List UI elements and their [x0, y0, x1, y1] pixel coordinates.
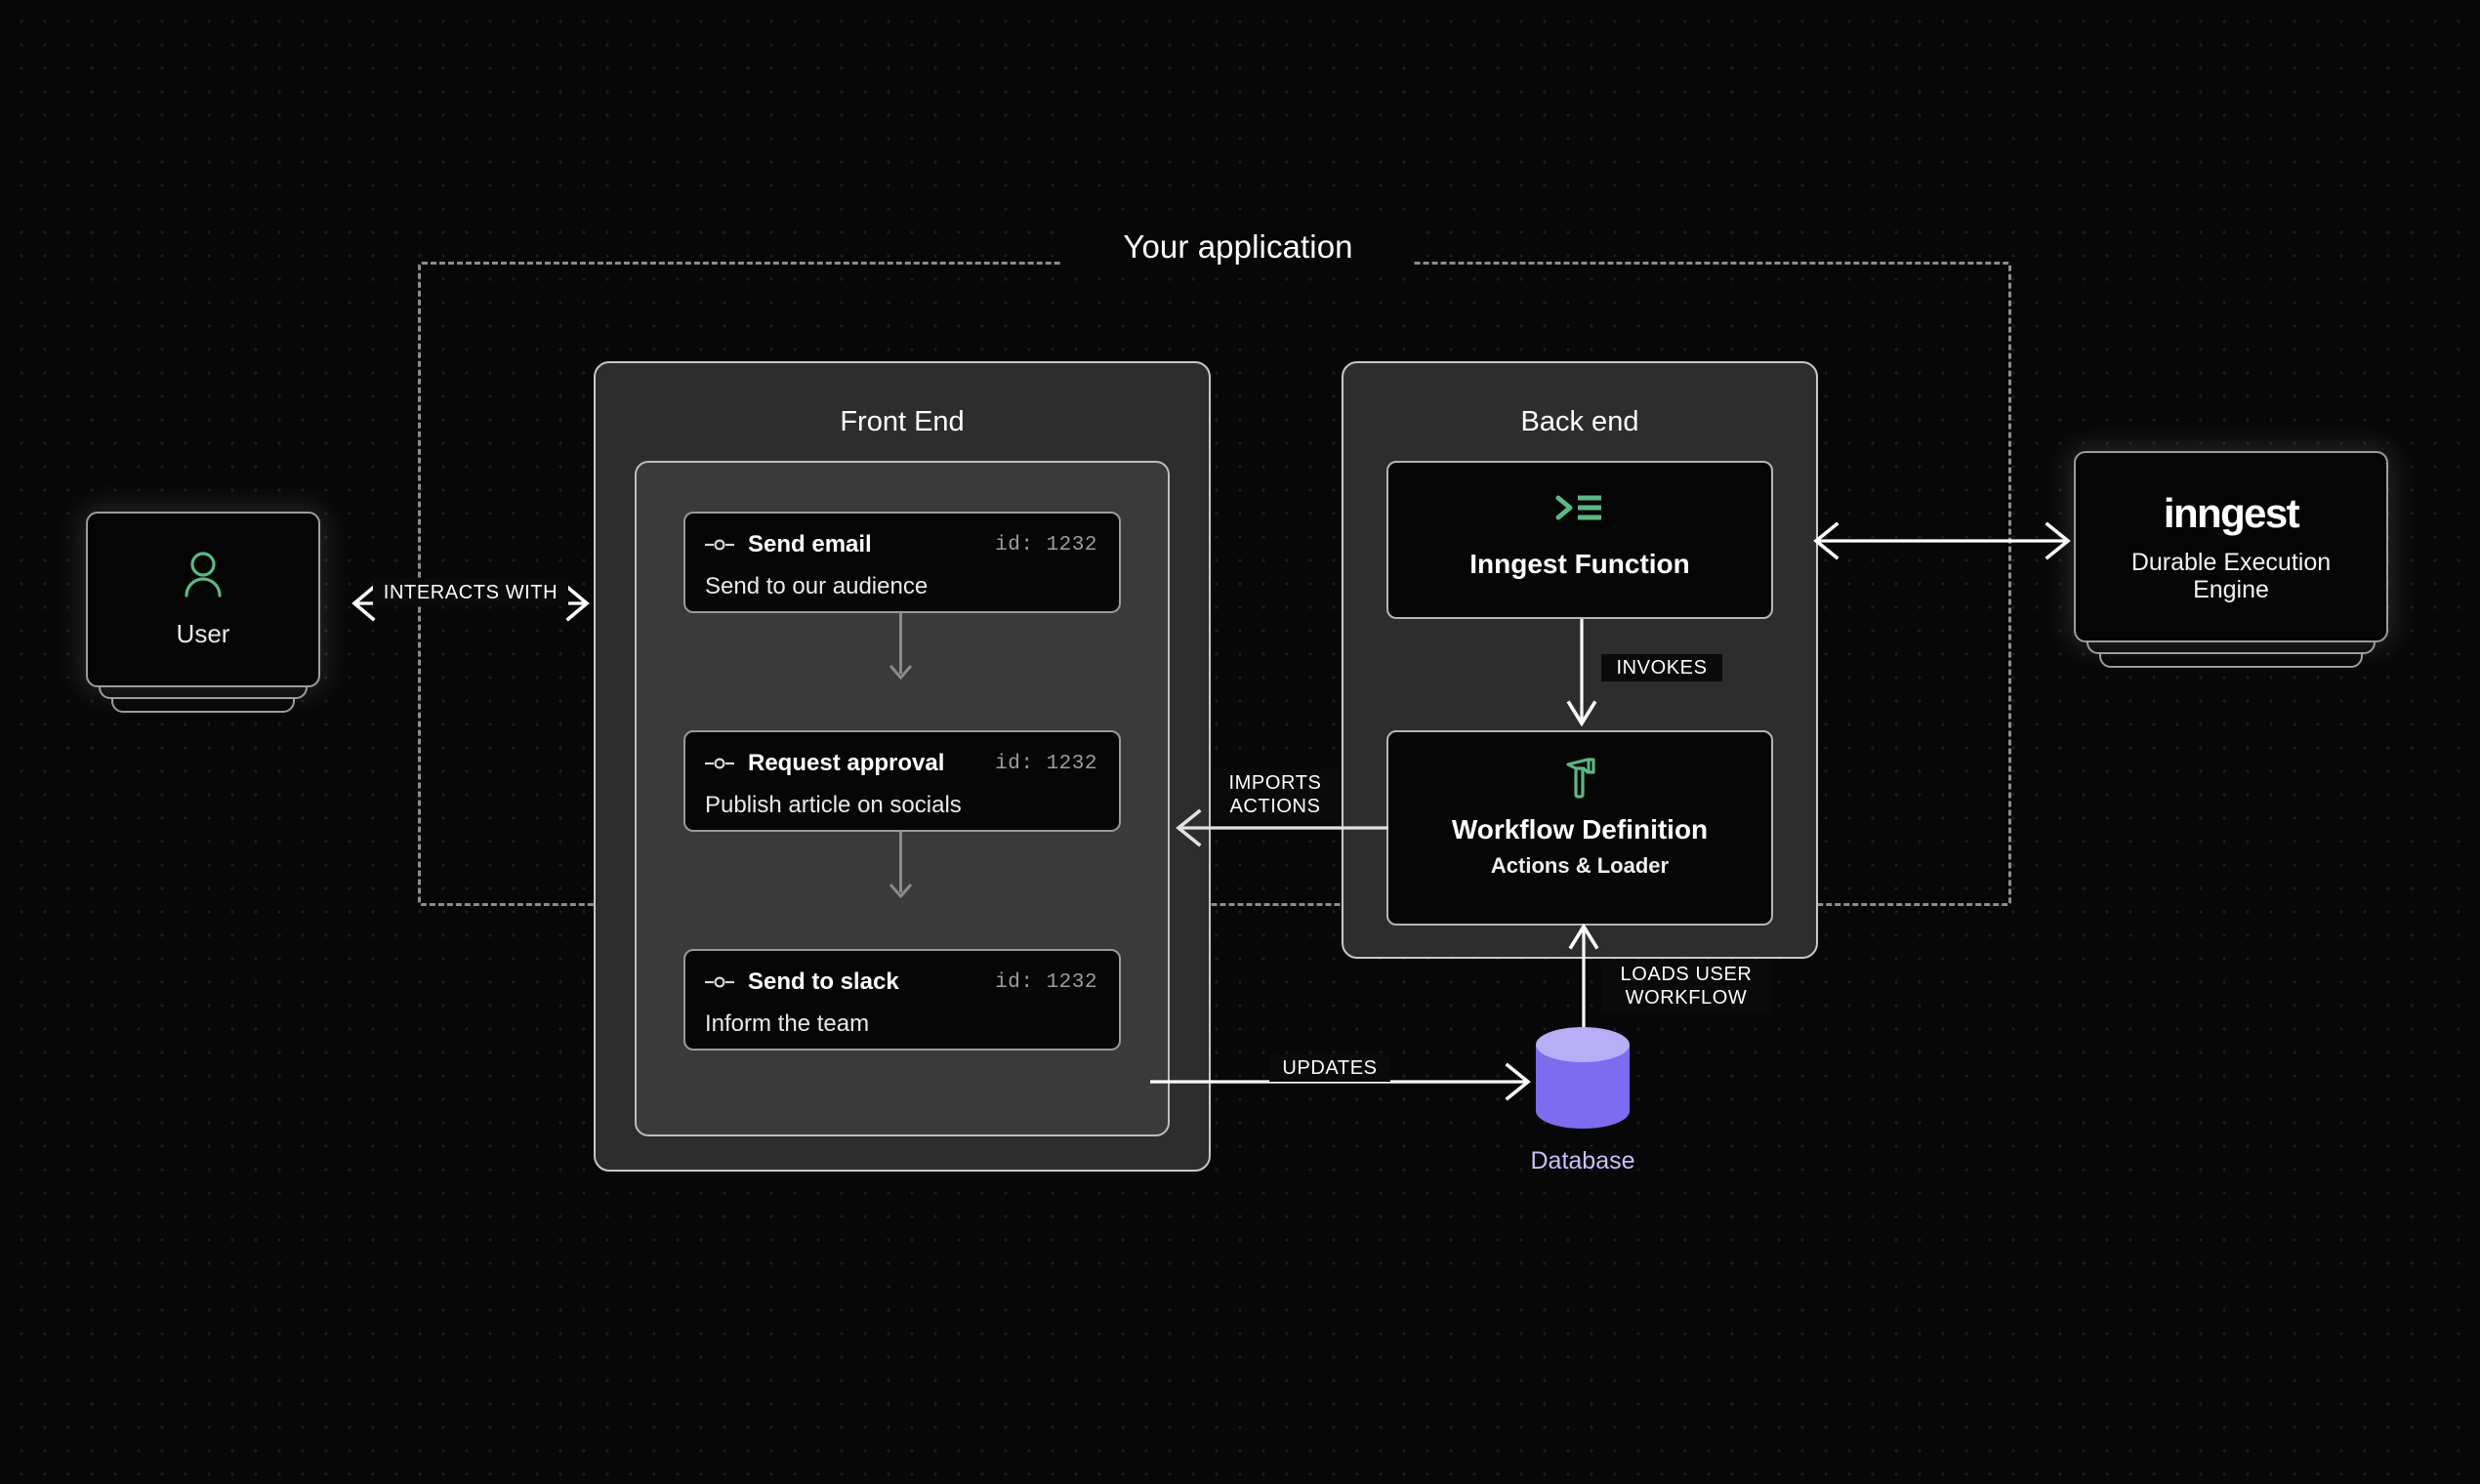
- backend-inngest-arrow: [1804, 521, 2080, 560]
- database-node[interactable]: Database: [1529, 1025, 1636, 1175]
- invokes-label: INVOKES: [1601, 654, 1722, 681]
- action-card-description: Send to our audience: [705, 573, 1097, 600]
- node-connector-icon: [705, 975, 734, 989]
- action-card-title: Send email: [748, 531, 872, 558]
- frontend-panel-title: Front End: [596, 406, 1209, 438]
- action-card-description: Publish article on socials: [705, 792, 1097, 819]
- action-card-id: id: 1232: [995, 534, 1097, 556]
- workflow-connector-2-arrowhead: [888, 883, 914, 898]
- diagram-canvas: Your application User INTERACTS WITH Fro…: [0, 0, 2480, 1484]
- imports-actions-label: IMPORTS ACTIONS: [1211, 769, 1340, 821]
- user-node-label: User: [177, 619, 230, 649]
- action-card-id: id: 1232: [995, 753, 1097, 775]
- invokes-arrow: [1568, 619, 1595, 732]
- inngest-function-title: Inngest Function: [1388, 549, 1771, 580]
- interacts-with-label: INTERACTS WITH: [373, 579, 568, 606]
- workflow-definition-subtitle: Actions & Loader: [1388, 853, 1771, 879]
- user-node[interactable]: User: [86, 512, 320, 687]
- action-card-id: id: 1232: [995, 971, 1097, 994]
- terminal-prompt-icon: [1388, 488, 1771, 527]
- action-card-request-approval[interactable]: Request approval id: 1232 Publish articl…: [683, 730, 1121, 832]
- loads-user-workflow-label: LOADS USER WORKFLOW: [1601, 961, 1771, 1012]
- node-connector-icon: [705, 757, 734, 770]
- action-card-title: Request approval: [748, 750, 944, 777]
- workflow-definition-box[interactable]: Workflow Definition Actions & Loader: [1386, 730, 1773, 926]
- action-card-description: Inform the team: [705, 1010, 1097, 1038]
- user-icon: [181, 550, 226, 603]
- workflow-definition-title: Workflow Definition: [1388, 814, 1771, 845]
- inngest-engine-node[interactable]: inngest Durable Execution Engine: [2074, 451, 2388, 642]
- loads-user-workflow-arrow: [1570, 922, 1597, 1035]
- node-connector-icon: [705, 538, 734, 552]
- action-card-send-email[interactable]: Send email id: 1232 Send to our audience: [683, 512, 1121, 613]
- action-card-send-to-slack[interactable]: Send to slack id: 1232 Inform the team: [683, 949, 1121, 1051]
- application-boundary-title: Your application: [1062, 227, 1414, 268]
- updates-label: UPDATES: [1269, 1054, 1390, 1082]
- action-card-title: Send to slack: [748, 969, 899, 996]
- hammer-icon: [1388, 756, 1771, 799]
- inngest-node-subtitle: Durable Execution Engine: [2104, 549, 2358, 603]
- database-cylinder-icon: [1532, 1118, 1633, 1134]
- backend-panel-title: Back end: [1343, 406, 1816, 438]
- inngest-logo-wordmark: inngest: [2164, 490, 2298, 537]
- inngest-function-box[interactable]: Inngest Function: [1386, 461, 1773, 619]
- workflow-connector-1-arrowhead: [888, 664, 914, 680]
- database-node-label: Database: [1529, 1147, 1636, 1175]
